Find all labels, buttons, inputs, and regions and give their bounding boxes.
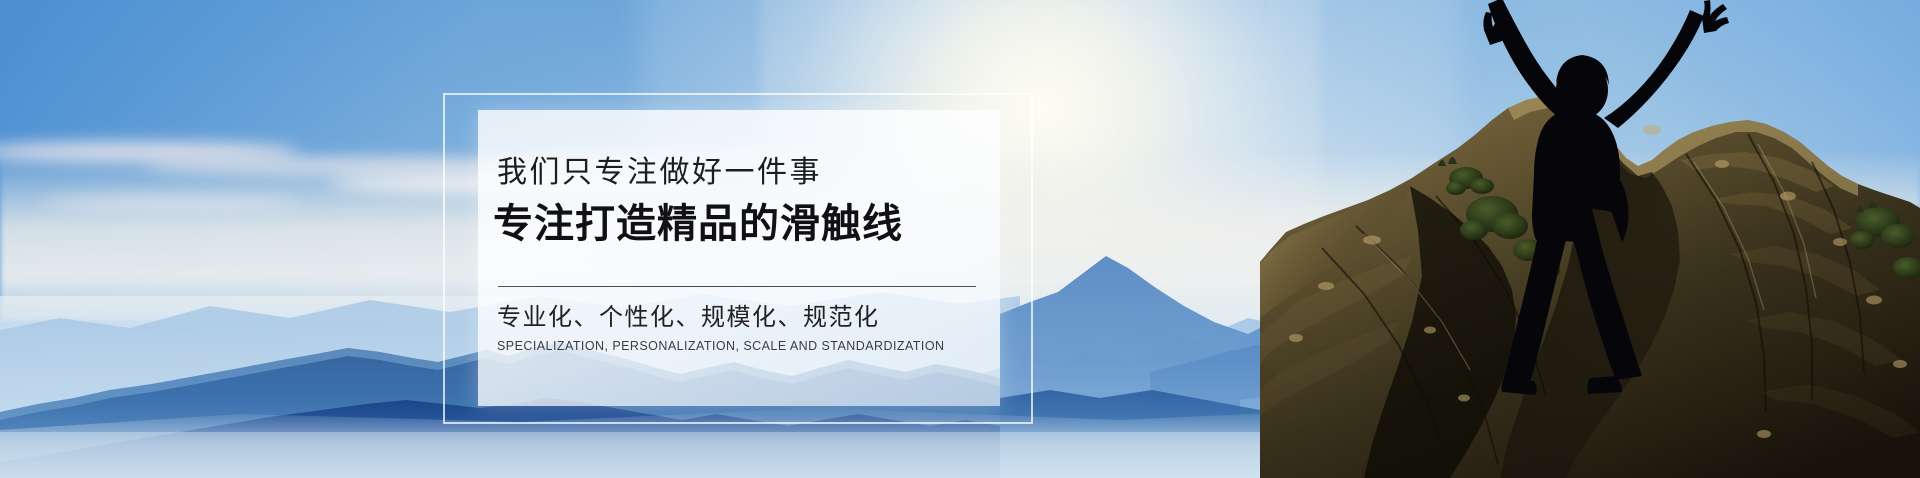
- banner-text-block: 我们只专注做好一件事 专注打造精品的滑触线 专业化、个性化、规模化、规范化 SP…: [497, 110, 997, 406]
- banner-tagline: 我们只专注做好一件事: [497, 158, 822, 188]
- banner-subheading-en: SPECIALIZATION, PERSONALIZATION, SCALE A…: [497, 340, 944, 353]
- text-divider: [498, 286, 976, 287]
- banner-headline: 专注打造精品的滑触线: [493, 204, 903, 244]
- hero-banner: 我们只专注做好一件事 专注打造精品的滑触线 专业化、个性化、规模化、规范化 SP…: [0, 0, 1920, 478]
- cliff-and-figure-scene: [1260, 0, 1920, 478]
- banner-subheading-cn: 专业化、个性化、规模化、规范化: [497, 306, 880, 330]
